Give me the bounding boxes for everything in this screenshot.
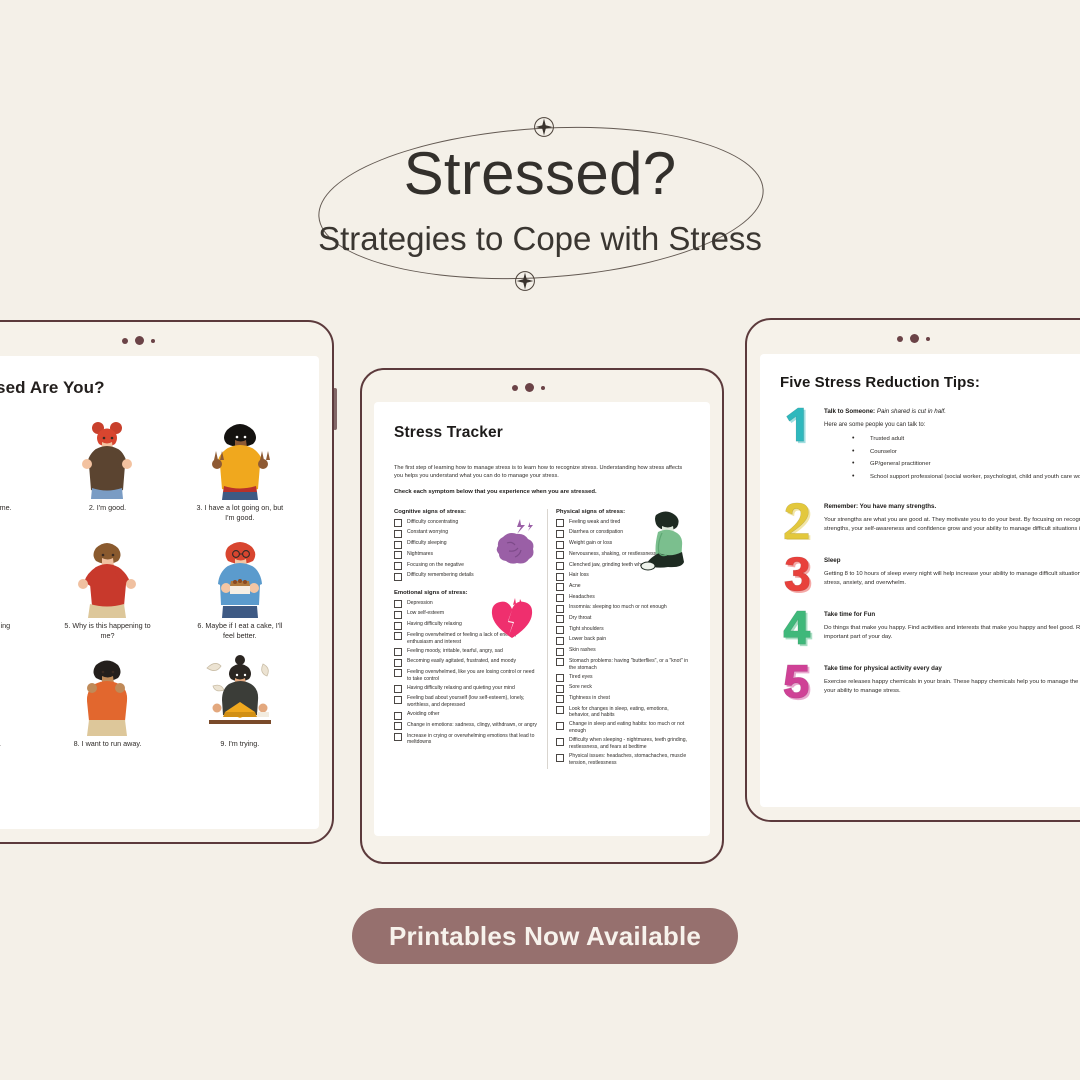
tip-heading: Take time for physical activity every da…	[824, 665, 1080, 674]
tablet-left-screen: How Stressed Are You? 1. It's too much f…	[0, 356, 319, 829]
checklist-label: Dry throat	[569, 615, 591, 622]
mood-cell: 5. Why is this happening to me?	[44, 532, 170, 640]
checklist-row[interactable]: Insomnia: sleeping too much or not enoug…	[556, 604, 690, 613]
checklist-label: Skin rashes	[569, 647, 596, 654]
left-page-title: How Stressed Are You?	[0, 378, 303, 398]
checklist-row[interactable]: Low self-esteem	[394, 610, 537, 619]
checkbox[interactable]	[556, 551, 564, 559]
tablet-right-screen: Five Stress Reduction Tips: Talk to Some…	[760, 354, 1080, 807]
checkbox[interactable]	[556, 573, 564, 581]
checkbox[interactable]	[394, 600, 402, 608]
mood-illustration-3	[203, 414, 277, 500]
checkbox[interactable]	[556, 637, 564, 645]
checkbox[interactable]	[394, 551, 402, 559]
checkbox[interactable]	[556, 658, 564, 666]
checklist-label: Lower back pain	[569, 636, 606, 643]
emotional-heading: Emotional signs of stress:	[394, 590, 537, 596]
checklist-label: Focusing on the negative	[407, 562, 464, 569]
tip-heading-bold: Talk to Someone:	[824, 408, 875, 415]
checkbox[interactable]	[556, 562, 564, 570]
checklist-label: Feeling moody, irritable, tearful, angry…	[407, 648, 503, 655]
checklist-label: Difficulty sleeping	[407, 540, 447, 547]
sparkle-icon	[531, 114, 557, 140]
tip-paragraph: Your strengths are what you are good at.…	[824, 516, 1080, 534]
checklist-row[interactable]: Feeling weak and tired	[556, 519, 690, 528]
checklist-row[interactable]: Dry throat	[556, 615, 690, 624]
checklist-label: Feeling bad about yourself (low self-est…	[407, 695, 537, 709]
checkbox[interactable]	[556, 685, 564, 693]
checkbox[interactable]	[556, 519, 564, 527]
mood-illustration-4	[0, 532, 12, 618]
checkbox[interactable]	[556, 615, 564, 623]
checkbox[interactable]	[394, 712, 402, 720]
mood-caption: 3. I have a lot going on, but I'm good.	[196, 503, 284, 522]
tablet-camera-dots	[897, 334, 930, 343]
checklist-row[interactable]: Constant worrying	[394, 529, 537, 538]
how-stressed-page: How Stressed Are You? 1. It's too much f…	[0, 356, 319, 829]
checkbox[interactable]	[394, 648, 402, 656]
tablet-center: Stress Tracker The first step of learnin…	[360, 368, 724, 864]
tip-heading: Talk to Someone: Pain shared is cut in h…	[824, 408, 1080, 417]
checklist-label: Low self-esteem	[407, 610, 444, 617]
checklist-label: Look for changes in sleep, eating, emoti…	[569, 706, 690, 720]
symptom-columns: Cognitive signs of stress:	[394, 509, 690, 769]
checklist-row[interactable]: Becoming easily agitated, frustrated, an…	[394, 658, 537, 667]
mood-illustration-8	[70, 650, 144, 736]
tip-heading-bold: Sleep	[824, 557, 841, 564]
checkbox[interactable]	[394, 530, 402, 538]
checklist-row[interactable]: Feeling moody, irritable, tearful, angry…	[394, 648, 537, 657]
checklist-row[interactable]: Nervousness, shaking, or restlessness	[556, 551, 690, 560]
checklist-row[interactable]: Having difficulty relaxing	[394, 621, 537, 630]
column-divider	[547, 509, 548, 769]
tracker-intro: The first step of learning how to manage…	[394, 464, 690, 481]
checklist-row[interactable]: Feeling overwhelmed, like you are losing…	[394, 669, 537, 683]
checkbox[interactable]	[556, 674, 564, 682]
checkbox[interactable]	[556, 706, 564, 714]
tip-heading: Remember: You have many strengths.	[824, 503, 1080, 512]
checkbox[interactable]	[394, 659, 402, 667]
mood-illustration-1	[0, 414, 12, 500]
stress-tracker-page: Stress Tracker The first step of learnin…	[374, 402, 710, 836]
checklist-row[interactable]: Depression	[394, 600, 537, 609]
checklist-row[interactable]: Difficulty sleeping	[394, 540, 537, 549]
mood-caption: 2. I'm good.	[89, 503, 126, 513]
checklist-label: Constant worrying	[407, 529, 448, 536]
checklist-label: Physical issues: headaches, stomachaches…	[569, 753, 690, 767]
checklist-label: Tight shoulders	[569, 626, 604, 633]
mood-cell: 9. I'm trying.	[177, 650, 303, 749]
checklist-row[interactable]: Clenched jaw, grinding teeth when sleepi…	[556, 562, 690, 571]
tip-paragraph: Exercise releases happy chemicals in you…	[824, 678, 1080, 696]
checklist-row[interactable]: Feeling bad about yourself (low self-est…	[394, 695, 537, 709]
mood-illustration-5	[70, 532, 144, 618]
column-cognitive-emotional: Cognitive signs of stress:	[394, 509, 537, 769]
checklist-label: Having difficulty relaxing	[407, 621, 462, 628]
tip-item: SleepGetting 8 to 10 hours of sleep ever…	[780, 554, 1080, 594]
checklist-label: Diarrhea or constipation	[569, 529, 623, 536]
checklist-row[interactable]: Acne	[556, 583, 690, 592]
physical-checklist: Feeling weak and tiredDiarrhea or consti…	[556, 519, 690, 767]
tip-body: SleepGetting 8 to 10 hours of sleep ever…	[824, 554, 1080, 594]
camera-dot	[122, 338, 128, 344]
tip-heading: Take time for Fun	[824, 611, 1080, 620]
checklist-label: Feeling weak and tired	[569, 519, 620, 526]
tablet-camera-dots	[122, 336, 155, 345]
tip-number-4	[780, 608, 814, 648]
checklist-label: Feeling overwhelmed or feeling a lack of…	[407, 632, 537, 646]
checklist-row[interactable]: Tight shoulders	[556, 626, 690, 635]
tablet-right: Five Stress Reduction Tips: Talk to Some…	[745, 318, 1080, 822]
checklist-label: Depression	[407, 600, 433, 607]
mood-cell: 8. I want to run away.	[44, 650, 170, 749]
checklist-row[interactable]: Lower back pain	[556, 636, 690, 645]
tip-body: Talk to Someone: Pain shared is cut in h…	[824, 405, 1080, 486]
checkbox[interactable]	[394, 541, 402, 549]
checklist-label: Avoiding other	[407, 711, 439, 718]
checklist-label: Nightmares	[407, 551, 433, 558]
checklist-row[interactable]: Avoiding other	[394, 711, 537, 720]
page-title: Stressed?	[0, 144, 1080, 204]
checkbox[interactable]	[556, 722, 564, 730]
checkbox[interactable]	[394, 733, 402, 741]
tip-sub: Here are some people you can talk to:	[824, 421, 1080, 430]
mood-caption: 7. I'm panicking.	[0, 739, 1, 749]
column-physical: Physical signs of stress:	[547, 509, 690, 769]
camera-dot	[151, 339, 155, 343]
checklist-row[interactable]: Change in emotions: sadness, clingy, wit…	[394, 722, 537, 731]
mood-illustration-9	[203, 650, 277, 736]
tip-paragraph: Getting 8 to 10 hours of sleep every nig…	[824, 570, 1080, 588]
checkbox[interactable]	[556, 754, 564, 762]
checkbox[interactable]	[394, 669, 402, 677]
checkbox[interactable]	[556, 605, 564, 613]
checkbox[interactable]	[556, 530, 564, 538]
checklist-label: Difficulty when sleeping - nightmares, t…	[569, 737, 690, 751]
checkbox[interactable]	[556, 594, 564, 602]
mood-cell: 2. I'm good.	[44, 414, 170, 522]
checklist-row[interactable]: Increase in crying or overwhelming emoti…	[394, 733, 537, 747]
checklist-label: Tightness in chest	[569, 695, 610, 702]
tip-bullet: Trusted adult	[824, 435, 1080, 444]
checklist-label: Difficulty remembering details	[407, 572, 474, 579]
checklist-row[interactable]: Nightmares	[394, 551, 537, 560]
checkbox[interactable]	[394, 519, 402, 527]
checklist-label: Increase in crying or overwhelming emoti…	[407, 733, 537, 747]
mood-caption: 6. Maybe if I eat a cake, I'll feel bett…	[196, 621, 284, 640]
mood-illustration-2	[70, 414, 144, 500]
checkbox[interactable]	[394, 611, 402, 619]
camera-dot	[512, 385, 518, 391]
tip-number-3	[780, 554, 814, 594]
checklist-row[interactable]: Having difficulty relaxing and quieting …	[394, 685, 537, 694]
checklist-row[interactable]: Change in sleep and eating habits: too m…	[556, 721, 690, 735]
checkbox[interactable]	[556, 626, 564, 634]
checkbox[interactable]	[556, 738, 564, 746]
cognitive-checklist: Difficulty concentratingConstant worryin…	[394, 519, 537, 581]
checklist-label: Nervousness, shaking, or restlessness	[569, 551, 656, 558]
tracker-instruction: Check each symptom below that you experi…	[394, 489, 690, 495]
checklist-row[interactable]: Skin rashes	[556, 647, 690, 656]
mood-illustration-6	[203, 532, 277, 618]
tip-paragraph: Do things that make you happy. Find acti…	[824, 624, 1080, 642]
camera-dot	[897, 336, 903, 342]
tip-item: Take time for physical activity every da…	[780, 662, 1080, 702]
cognitive-heading: Cognitive signs of stress:	[394, 509, 537, 515]
tablet-center-screen: Stress Tracker The first step of learnin…	[374, 402, 710, 836]
mood-caption: 9. I'm trying.	[220, 739, 259, 749]
tablet-left: How Stressed Are You? 1. It's too much f…	[0, 320, 334, 844]
checklist-row[interactable]: Tightness in chest	[556, 695, 690, 704]
checkbox[interactable]	[556, 583, 564, 591]
tip-heading-bold: Take time for physical activity every da…	[824, 665, 942, 672]
tip-bullets: Trusted adultCounselorGP/general practit…	[824, 435, 1080, 482]
camera-dot	[926, 337, 930, 341]
tip-heading: Sleep	[824, 557, 1080, 566]
tip-item: Take time for FunDo things that make you…	[780, 608, 1080, 648]
mood-cell: 1. It's too much for me.	[0, 414, 38, 522]
mood-caption: 1. It's too much for me.	[0, 503, 12, 513]
checklist-label: Becoming easily agitated, frustrated, an…	[407, 658, 516, 665]
checklist-label: Weight gain or loss	[569, 540, 612, 547]
checkbox[interactable]	[394, 722, 402, 730]
checklist-row[interactable]: Sore neck	[556, 684, 690, 693]
sparkle-icon	[512, 268, 538, 294]
header: Stressed? Strategies to Cope with Stress	[0, 100, 1080, 310]
mood-caption: 4. Everything is falling apart.	[0, 621, 19, 640]
checklist-row[interactable]: Focusing on the negative	[394, 562, 537, 571]
tip-bullet: School support professional (social work…	[824, 473, 1080, 482]
checklist-label: Acne	[569, 583, 581, 590]
tip-body: Take time for physical activity every da…	[824, 662, 1080, 702]
checklist-row[interactable]: Difficulty concentrating	[394, 519, 537, 528]
checklist-row[interactable]: Stomach problems: having "butterflies", …	[556, 658, 690, 672]
page-subtitle: Strategies to Cope with Stress	[0, 222, 1080, 255]
center-page-title: Stress Tracker	[394, 424, 690, 442]
checklist-label: Difficulty concentrating	[407, 519, 458, 526]
stress-tips-page: Five Stress Reduction Tips: Talk to Some…	[760, 354, 1080, 807]
tablet-camera-dots	[512, 383, 545, 392]
tablet-side-button[interactable]	[333, 388, 337, 430]
camera-dot	[525, 383, 534, 392]
tip-body: Remember: You have many strengths.Your s…	[824, 500, 1080, 540]
tip-item: Talk to Someone: Pain shared is cut in h…	[780, 405, 1080, 486]
checkbox[interactable]	[394, 573, 402, 581]
checkbox[interactable]	[394, 562, 402, 570]
mood-cell: 4. Everything is falling apart.	[0, 532, 38, 640]
tips-list: Talk to Someone: Pain shared is cut in h…	[780, 405, 1080, 702]
checkbox[interactable]	[394, 696, 402, 704]
checklist-label: Hair loss	[569, 572, 589, 579]
checklist-row[interactable]: Tired eyes	[556, 674, 690, 683]
mood-illustration-7	[0, 650, 12, 736]
checklist-row[interactable]: Diarrhea or constipation	[556, 529, 690, 538]
checkbox[interactable]	[394, 632, 402, 640]
checkbox[interactable]	[556, 695, 564, 703]
checklist-label: Clenched jaw, grinding teeth when sleepi…	[569, 562, 667, 569]
checklist-label: Insomnia: sleeping too much or not enoug…	[569, 604, 667, 611]
tip-bullet: Counselor	[824, 448, 1080, 457]
checklist-row[interactable]: Difficulty remembering details	[394, 572, 537, 581]
checklist-row[interactable]: Feeling overwhelmed or feeling a lack of…	[394, 632, 537, 646]
camera-dot	[135, 336, 144, 345]
mood-grid: 1. It's too much for me.2. I'm good.3. I…	[0, 414, 303, 749]
checklist-label: Stomach problems: having "butterflies", …	[569, 658, 690, 672]
checklist-label: Change in sleep and eating habits: too m…	[569, 721, 690, 735]
tip-number-5	[780, 662, 814, 702]
checklist-label: Feeling overwhelmed, like you are losing…	[407, 669, 537, 683]
mood-caption: 5. Why is this happening to me?	[63, 621, 151, 640]
emotional-checklist: DepressionLow self-esteemHaving difficul…	[394, 600, 537, 747]
checklist-row[interactable]: Headaches	[556, 594, 690, 603]
checklist-row[interactable]: Difficulty when sleeping - nightmares, t…	[556, 737, 690, 751]
checklist-row[interactable]: Weight gain or loss	[556, 540, 690, 549]
poster-canvas: Stressed? Strategies to Cope with Stress…	[0, 0, 1080, 1080]
tip-number-2	[780, 500, 814, 540]
tip-bullet: GP/general practitioner	[824, 460, 1080, 469]
mood-cell: 3. I have a lot going on, but I'm good.	[177, 414, 303, 522]
tip-heading-bold: Remember: You have many strengths.	[824, 503, 936, 510]
tip-heading-bold: Take time for Fun	[824, 611, 875, 618]
tip-heading-italic: Pain shared is cut in half.	[875, 408, 946, 415]
tip-body: Take time for FunDo things that make you…	[824, 608, 1080, 648]
checkbox[interactable]	[556, 648, 564, 656]
checkbox[interactable]	[556, 541, 564, 549]
checklist-label: Tired eyes	[569, 674, 593, 681]
tip-item: Remember: You have many strengths.Your s…	[780, 500, 1080, 540]
checkbox[interactable]	[394, 622, 402, 630]
right-page-title: Five Stress Reduction Tips:	[780, 374, 1080, 391]
checklist-label: Headaches	[569, 594, 595, 601]
tip-number-1	[780, 405, 814, 445]
checklist-row[interactable]: Look for changes in sleep, eating, emoti…	[556, 706, 690, 720]
checklist-row[interactable]: Physical issues: headaches, stomachaches…	[556, 753, 690, 767]
checklist-row[interactable]: Hair loss	[556, 572, 690, 581]
checkbox[interactable]	[394, 685, 402, 693]
camera-dot	[910, 334, 919, 343]
checklist-label: Having difficulty relaxing and quieting …	[407, 685, 515, 692]
mood-cell: 7. I'm panicking.	[0, 650, 38, 749]
camera-dot	[541, 386, 545, 390]
checklist-label: Change in emotions: sadness, clingy, wit…	[407, 722, 537, 729]
printables-now-available-button[interactable]: Printables Now Available	[352, 908, 738, 964]
physical-heading: Physical signs of stress:	[556, 509, 690, 515]
mood-caption: 8. I want to run away.	[74, 739, 142, 749]
mood-cell: 6. Maybe if I eat a cake, I'll feel bett…	[177, 532, 303, 640]
checklist-label: Sore neck	[569, 684, 592, 691]
